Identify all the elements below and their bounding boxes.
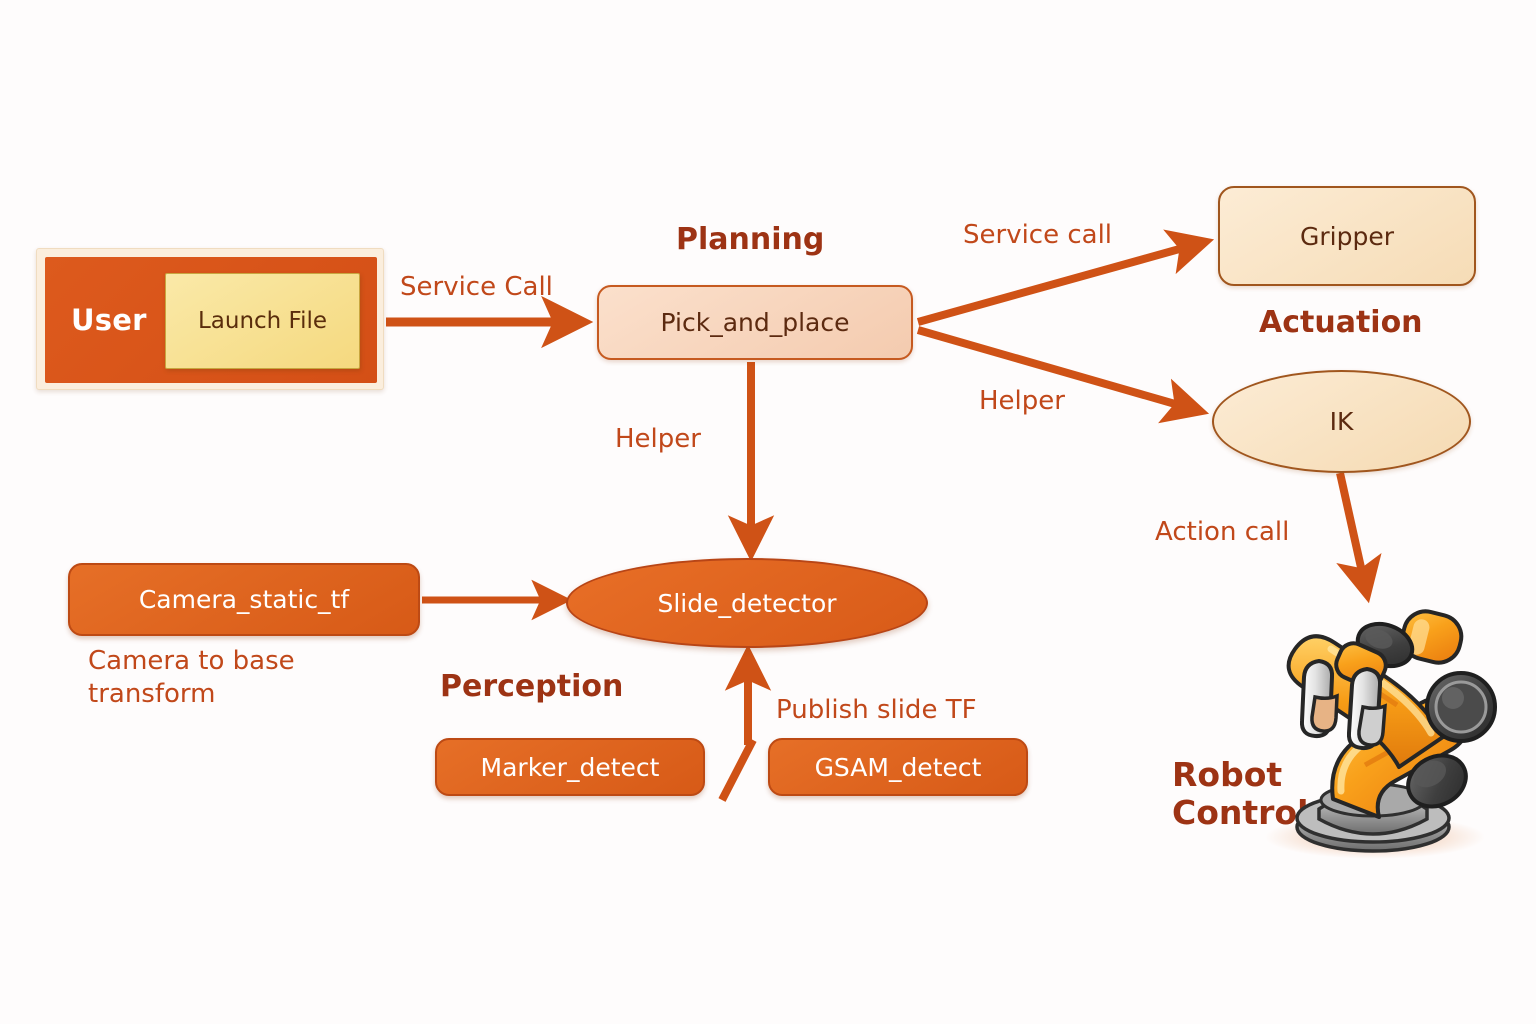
slide-detector-node[interactable]: Slide_detector bbox=[566, 558, 928, 648]
edge-pick-and-place-to-gripper bbox=[918, 243, 1201, 322]
edge-label-publish-slide-tf: Publish slide TF bbox=[776, 695, 977, 725]
pick-and-place-node[interactable]: Pick_and_place bbox=[597, 285, 913, 360]
gsam-detect-node[interactable]: GSAM_detect bbox=[768, 738, 1028, 796]
diagram-canvas: User Launch File Pick_and_place Gripper … bbox=[0, 0, 1536, 1024]
launch-file-node[interactable]: Launch File bbox=[165, 273, 360, 369]
edge-label-helper-slide-detector: Helper bbox=[615, 424, 701, 454]
camera-transform-note: Camera to base transform bbox=[88, 645, 338, 712]
robot-arm-icon bbox=[1215, 585, 1515, 875]
gsam-detect-label: GSAM_detect bbox=[815, 753, 982, 782]
ik-node[interactable]: IK bbox=[1212, 370, 1471, 473]
edge-label-service-call-user: Service Call bbox=[400, 272, 553, 302]
camera-static-tf-node[interactable]: Camera_static_tf bbox=[68, 563, 420, 636]
gripper-node[interactable]: Gripper bbox=[1218, 186, 1476, 286]
ik-label: IK bbox=[1330, 407, 1354, 436]
marker-detect-label: Marker_detect bbox=[481, 753, 660, 782]
user-node-body: User Launch File bbox=[45, 257, 377, 383]
edge-ik-to-robot bbox=[1340, 473, 1366, 590]
group-heading-actuation: Actuation bbox=[1259, 305, 1423, 340]
camera-static-tf-label: Camera_static_tf bbox=[139, 585, 349, 614]
pick-and-place-label: Pick_and_place bbox=[661, 308, 850, 337]
edge-detect-to-slide-detector bbox=[722, 658, 753, 800]
edge-label-action-call: Action call bbox=[1155, 517, 1289, 547]
group-heading-planning: Planning bbox=[676, 222, 824, 257]
user-node[interactable]: User Launch File bbox=[36, 248, 384, 390]
launch-file-label: Launch File bbox=[198, 308, 327, 334]
user-label: User bbox=[71, 303, 147, 337]
robot-wrist-joint bbox=[1427, 673, 1495, 741]
marker-detect-node[interactable]: Marker_detect bbox=[435, 738, 705, 796]
group-heading-perception: Perception bbox=[440, 669, 623, 704]
gripper-label: Gripper bbox=[1300, 222, 1394, 251]
edge-label-helper-ik: Helper bbox=[979, 386, 1065, 416]
slide-detector-label: Slide_detector bbox=[657, 589, 836, 618]
edge-label-service-call-gripper: Service call bbox=[963, 220, 1112, 250]
